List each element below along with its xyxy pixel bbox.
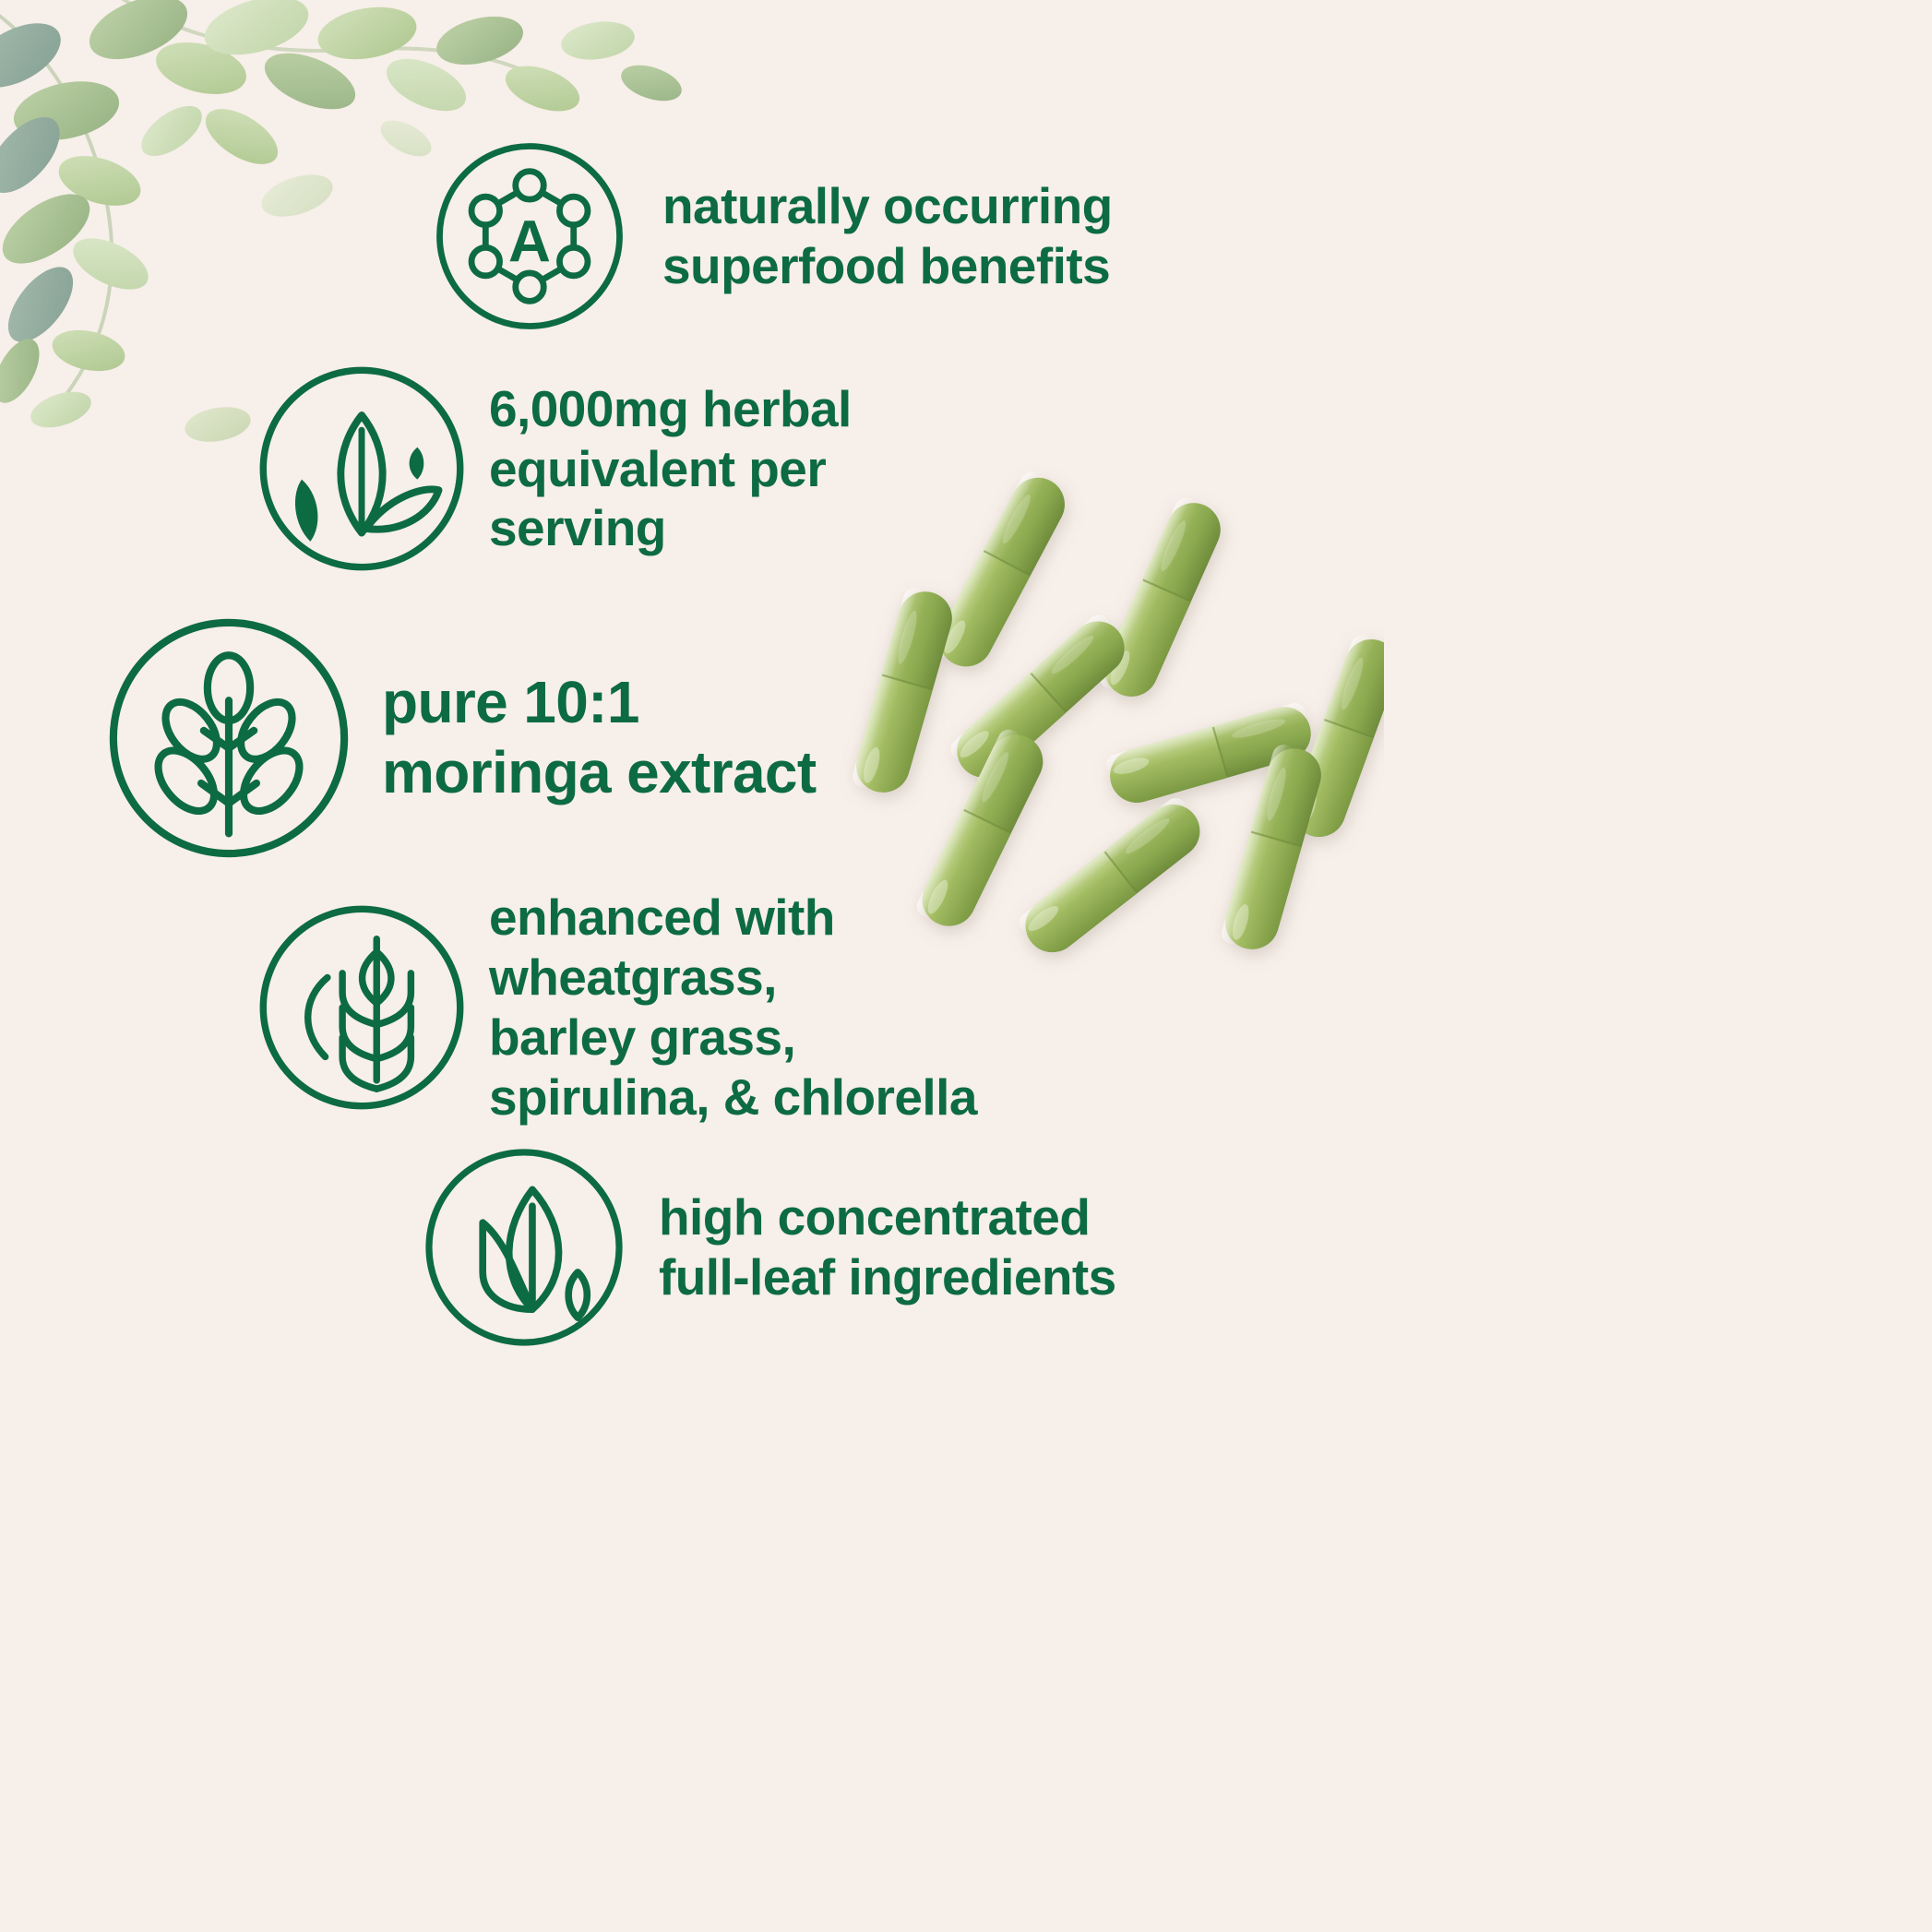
moringa-sprig-icon <box>103 613 354 864</box>
molecule-letter: A <box>508 209 551 275</box>
foliage-branch-left <box>0 9 156 435</box>
feature-label-moringa-extract: pure 10:1 moringa extract <box>382 668 817 807</box>
feature-row-superfood-benefits: A naturally occurring superfood benefits <box>432 138 1113 334</box>
molecule-a-icon: A <box>432 138 627 334</box>
capsule <box>1015 793 1210 963</box>
capsule <box>930 468 1074 675</box>
feature-row-full-leaf: high concentrated full-leaf ingredients <box>421 1144 1116 1351</box>
full-leaf-icon <box>421 1144 627 1351</box>
capsule <box>850 585 958 798</box>
feature-label-enhanced-greens: enhanced with wheatgrass, barley grass, … <box>489 888 977 1127</box>
capsule <box>1096 495 1229 705</box>
feature-row-enhanced-greens: enhanced with wheatgrass, barley grass, … <box>255 888 977 1127</box>
infographic-canvas: A naturally occurring superfood benefits… <box>0 0 1932 1932</box>
leaf-cluster-icon <box>255 362 469 576</box>
feature-label-full-leaf: high concentrated full-leaf ingredients <box>659 1187 1116 1307</box>
feature-row-herbal-equivalent: 6,000mg herbal equivalent per serving <box>255 362 852 576</box>
feature-row-moringa-extract: pure 10:1 moringa extract <box>103 613 817 864</box>
feature-label-superfood-benefits: naturally occurring superfood benefits <box>662 176 1113 296</box>
wheat-stalk-icon <box>255 900 469 1115</box>
feature-label-herbal-equivalent: 6,000mg herbal equivalent per serving <box>489 379 852 559</box>
